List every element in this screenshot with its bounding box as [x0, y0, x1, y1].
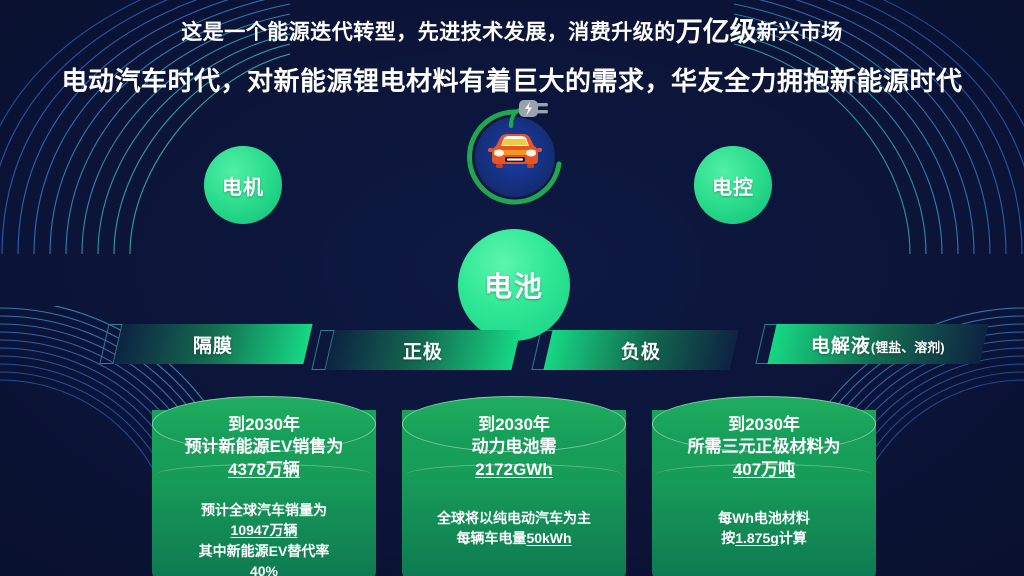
cylinder-cathode-material[interactable]: 到2030年 所需三元正极材料为 407万吨 每Wh电池材料 按1.875g计算: [652, 396, 876, 576]
cylinder-battery-demand-head-value: 2172GWh: [402, 459, 626, 481]
banner-anode-inner: 负极: [621, 337, 661, 364]
title-block: 这是一个能源迭代转型，先进技术发展，消费升级的万亿级新兴市场 电动汽车时代，对新…: [0, 16, 1024, 98]
cylinder-battery-demand-foot-l2: 每辆车电量50kWh: [402, 528, 626, 548]
cylinder-cathode-material-foot-post: 计算: [779, 530, 807, 546]
cylinder-cathode-material-foot-l2: 按1.875g计算: [652, 528, 876, 548]
node-control-label: 电控: [712, 171, 754, 200]
node-motor[interactable]: 电机: [204, 146, 282, 224]
headline-secondary: 电动汽车时代，对新能源锂电材料有着巨大的需求，华友全力拥抱新能源时代: [0, 61, 1024, 98]
banner-cathode-label: 正极: [403, 337, 443, 364]
cylinder-battery-demand-foot-l1: 全球将以纯电动汽车为主: [402, 508, 626, 528]
cylinder-cathode-material-headline: 到2030年 所需三元正极材料为 407万吨: [652, 414, 876, 481]
cylinder-battery-demand-headline: 到2030年 动力电池需 2172GWh: [402, 414, 626, 481]
power-plug-icon: [509, 96, 555, 130]
cylinder-cathode-material-foot-l1: 每Wh电池材料: [652, 508, 876, 528]
cylinder-ev-sales-foot-value2: 40%: [152, 561, 376, 576]
node-battery[interactable]: 电池: [458, 229, 570, 341]
banner-cathode-inner: 正极: [403, 337, 443, 364]
cylinder-cathode-material-detail: 每Wh电池材料 按1.875g计算: [652, 508, 876, 549]
slide-canvas: 这是一个能源迭代转型，先进技术发展，消费升级的万亿级新兴市场 电动汽车时代，对新…: [0, 0, 1024, 576]
banner-separator-label: 隔膜: [193, 331, 233, 358]
cylinder-ev-sales-head-l2: 预计新能源EV销售为: [152, 436, 376, 458]
cylinder-cathode-material-head-l2: 所需三元正极材料为: [652, 436, 876, 458]
cylinder-battery-demand-foot-value1: 50kWh: [526, 530, 571, 546]
banner-separator-inner: 隔膜: [193, 331, 233, 358]
cylinder-ev-sales-head-l1: 到2030年: [152, 414, 376, 436]
cylinder-cathode-material-foot-pre: 按: [721, 530, 735, 546]
headline-primary-post: 新兴市场: [757, 21, 843, 44]
cylinder-battery-demand-head-l2: 动力电池需: [402, 436, 626, 458]
cylinder-ev-sales-headline: 到2030年 预计新能源EV销售为 4378万辆: [152, 414, 376, 481]
electric-car-icon: [486, 130, 544, 178]
banner-separator[interactable]: 隔膜: [113, 324, 312, 364]
cylinder-cathode-material-head-l1: 到2030年: [652, 414, 876, 436]
cylinder-ev-sales-foot-value1: 10947万辆: [152, 520, 376, 540]
banner-anode[interactable]: 负极: [543, 330, 738, 370]
banner-anode-label: 负极: [621, 337, 661, 364]
cylinder-battery-demand-detail: 全球将以纯电动汽车为主 每辆车电量50kWh: [402, 508, 626, 549]
cylinder-ev-sales-foot-l2: 其中新能源EV替代率: [152, 541, 376, 561]
headline-primary: 这是一个能源迭代转型，先进技术发展，消费升级的万亿级新兴市场: [0, 16, 1024, 50]
node-battery-label: 电池: [484, 265, 544, 305]
node-motor-label: 电机: [222, 171, 264, 200]
cylinder-cathode-material-head-value: 407万吨: [652, 459, 876, 481]
cylinder-cathode-material-foot-value1: 1.875g: [735, 530, 779, 546]
banner-electrolyte-inner: 电解液(锂盐、溶剂): [811, 331, 945, 358]
electric-car-emblem: [462, 104, 568, 210]
cylinder-battery-demand-foot-pre: 每辆车电量: [456, 530, 526, 546]
node-control[interactable]: 电控: [694, 146, 772, 224]
cylinder-battery-demand-head-l1: 到2030年: [402, 414, 626, 436]
banner-electrolyte[interactable]: 电解液(锂盐、溶剂): [767, 324, 988, 364]
cylinder-battery-demand[interactable]: 到2030年 动力电池需 2172GWh 全球将以纯电动汽车为主 每辆车电量50…: [402, 396, 626, 576]
banner-electrolyte-sublabel: (锂盐、溶剂): [871, 337, 945, 356]
cylinder-ev-sales[interactable]: 到2030年 预计新能源EV销售为 4378万辆 预计全球汽车销量为 10947…: [152, 396, 376, 576]
banner-electrolyte-label: 电解液: [811, 331, 871, 358]
cylinder-ev-sales-foot-l1: 预计全球汽车销量为: [152, 500, 376, 520]
banner-cathode[interactable]: 正极: [325, 330, 520, 370]
cylinder-ev-sales-head-value: 4378万辆: [152, 459, 376, 481]
headline-primary-emphasis: 万亿级: [676, 17, 757, 47]
cylinder-ev-sales-detail: 预计全球汽车销量为 10947万辆 其中新能源EV替代率 40%: [152, 500, 376, 576]
headline-primary-pre: 这是一个能源迭代转型，先进技术发展，消费升级的: [181, 21, 676, 44]
